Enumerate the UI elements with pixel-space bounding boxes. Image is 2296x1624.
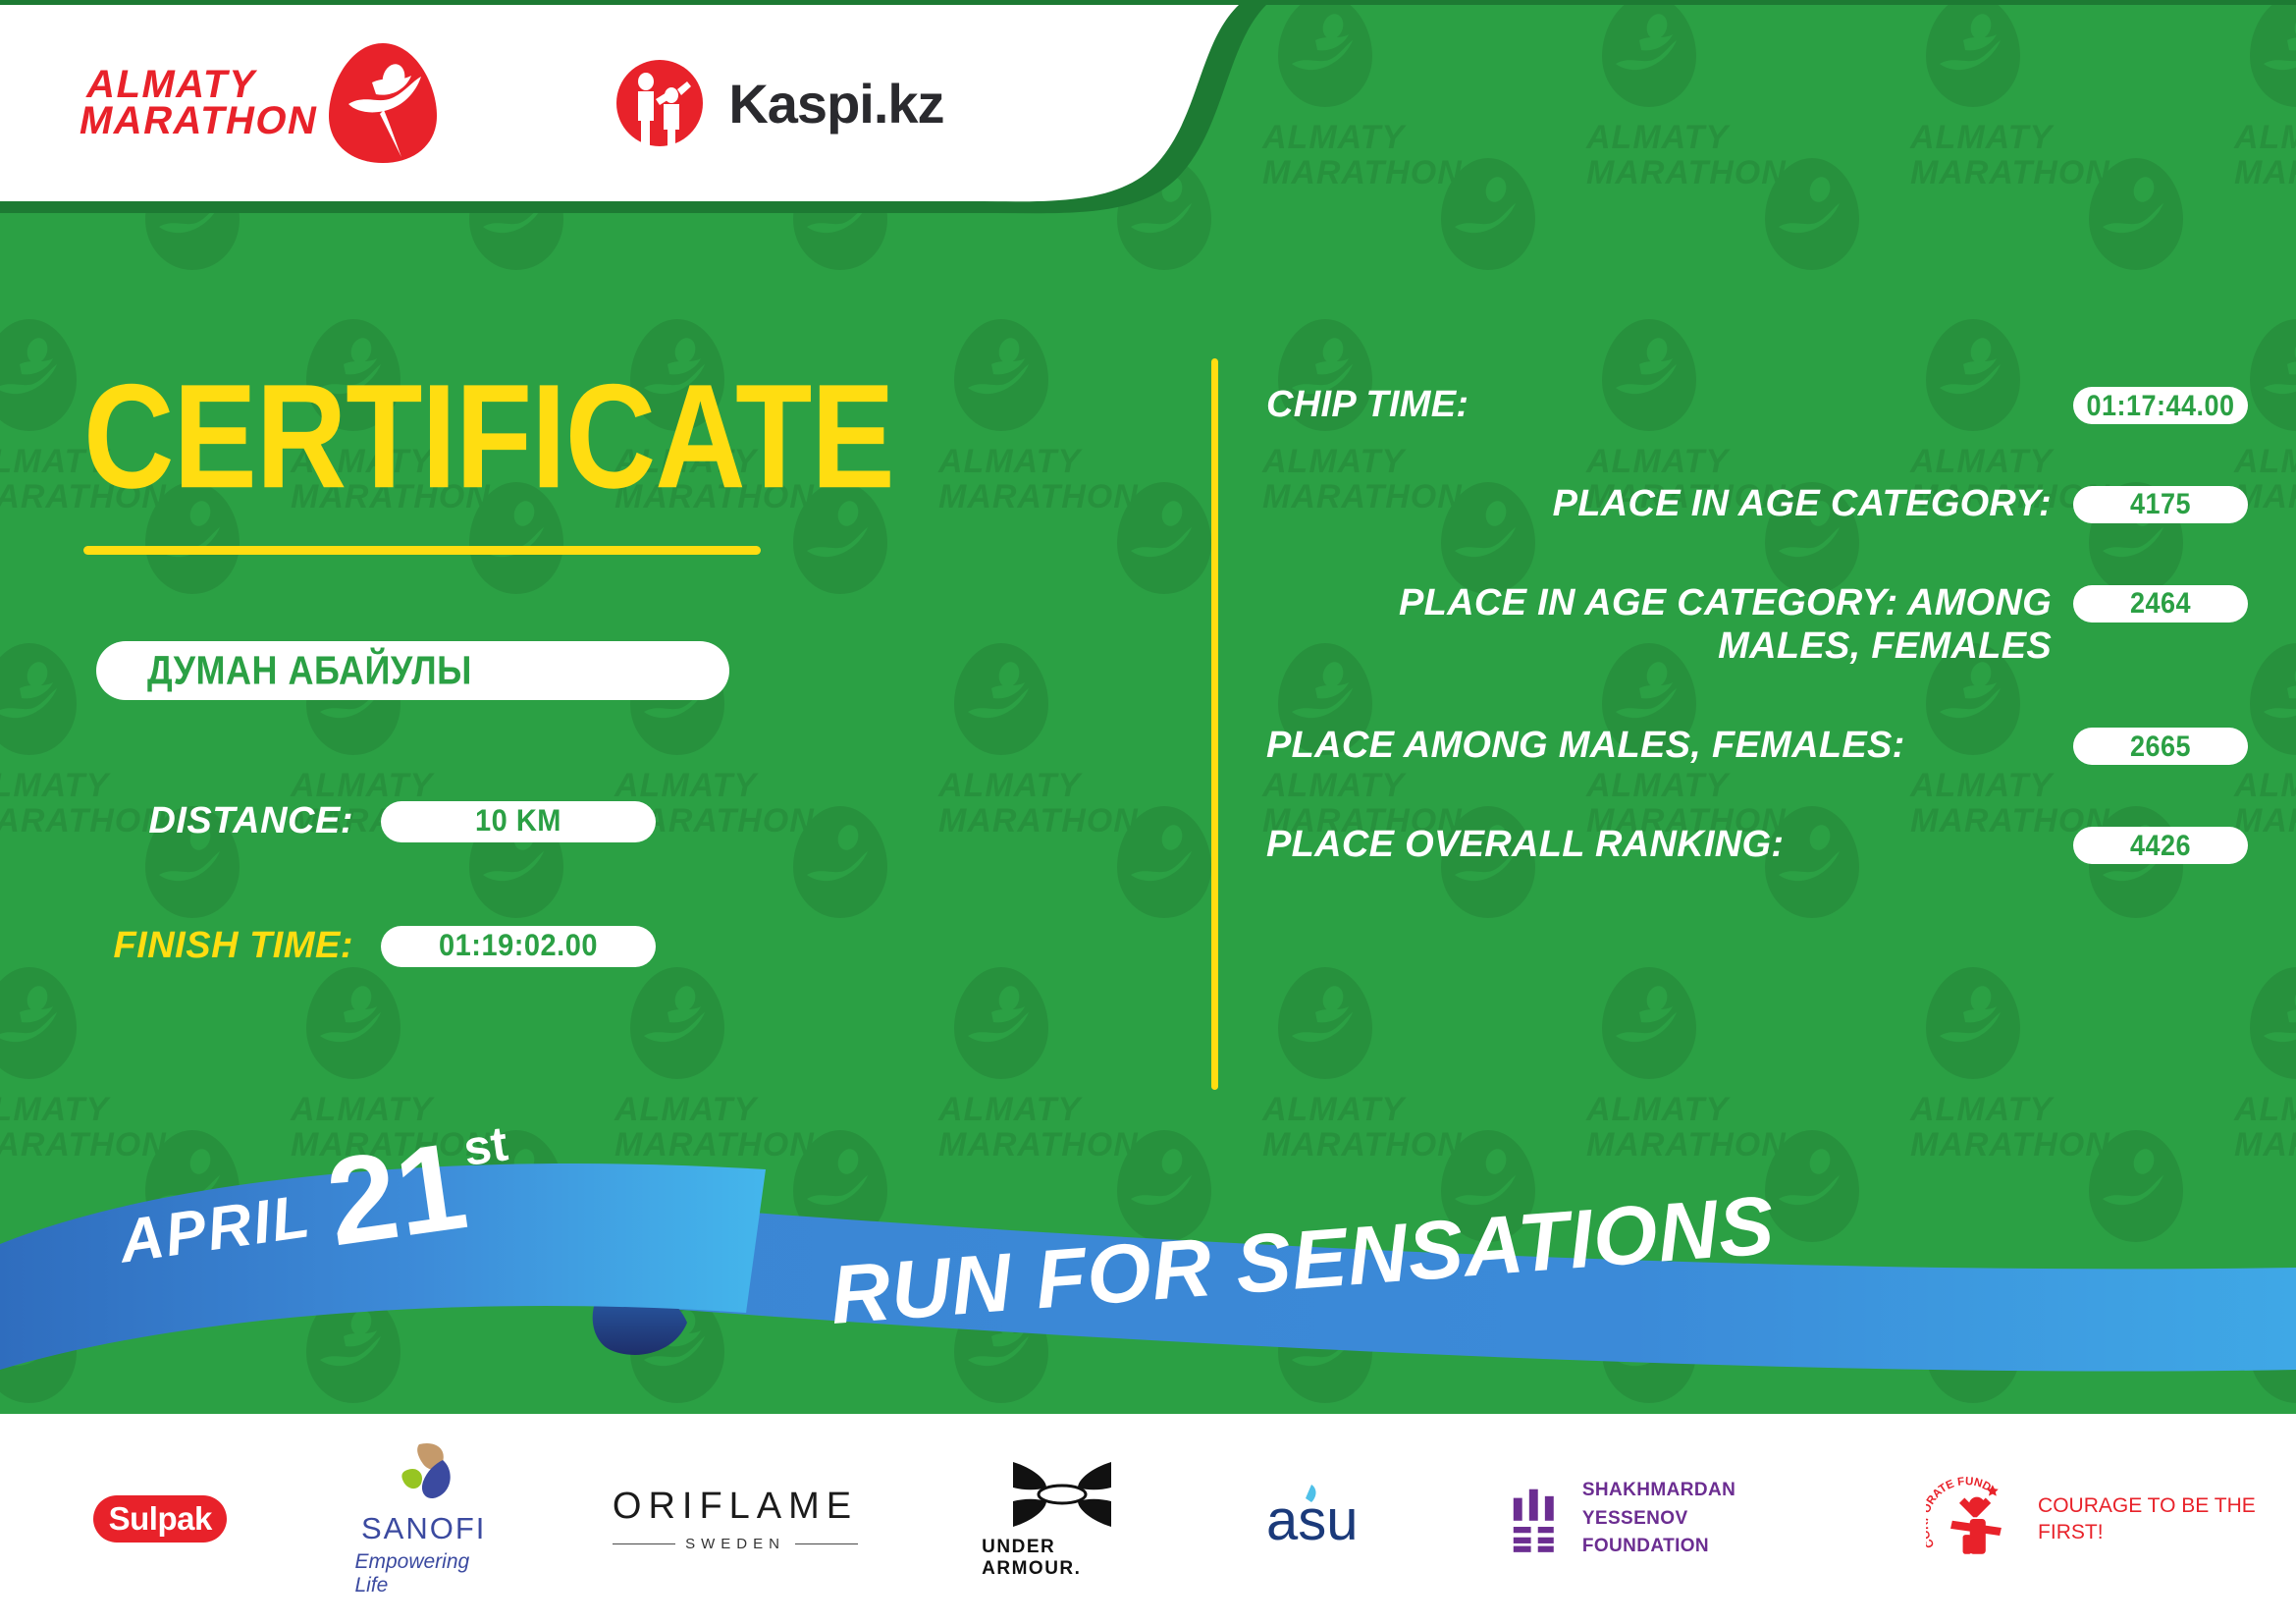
sponsor-asu[interactable]: asu xyxy=(1264,1483,1404,1555)
header-logo-row: ALMATY MARATHON xyxy=(0,10,1178,196)
stat-row-chip-time: CHIP TIME: 01:17:44.00 xyxy=(1266,383,2248,427)
event-day: 21 xyxy=(322,1136,472,1253)
sponsor-under-armour[interactable]: UNDER ARMOUR. xyxy=(982,1458,1143,1580)
chip-time-label: CHIP TIME: xyxy=(1266,383,2052,427)
right-stats-group: CHIP TIME: 01:17:44.00 PLACE IN AGE CATE… xyxy=(1266,383,2248,922)
under-armour-logo-icon xyxy=(1007,1458,1117,1531)
event-date: APRIL 21 st xyxy=(110,1114,519,1282)
oriflame-rule-right xyxy=(795,1543,858,1544)
oriflame-tagline: SWEDEN xyxy=(685,1536,785,1552)
sanofi-wordmark: SANOFI xyxy=(361,1511,486,1546)
kaspi-wordmark: Kaspi.kz xyxy=(728,72,943,135)
certificate-green-panel: ALMATY MARATHON xyxy=(0,5,2296,1624)
yessenov-line2: FOUNDATION xyxy=(1582,1536,1709,1556)
place-age-category-value-pill: 4175 xyxy=(2073,486,2248,523)
stat-row-place-overall: PLACE OVERALL RANKING: 4426 xyxy=(1266,823,2248,867)
event-slogan: RUN FOR SENSATIONS xyxy=(828,1177,1778,1343)
kaspi-logo[interactable]: Kaspi.kz xyxy=(613,56,943,150)
runner-drop-icon xyxy=(325,39,441,167)
finish-time-label: FINISH TIME: xyxy=(96,925,381,967)
stat-row-place-among-gender: PLACE AMONG MALES, FEMALES: 2665 xyxy=(1266,724,2248,768)
corporate-fund-runner-icon: CORPORATE FUND xyxy=(1926,1468,2024,1570)
almaty-marathon-wordmark: ALMATY MARATHON xyxy=(77,67,329,139)
sponsor-oriflame[interactable]: ORIFLAME SWEDEN xyxy=(613,1486,858,1552)
page-title: CERTIFICATE xyxy=(83,363,894,512)
place-age-category-gender-label: PLACE IN AGE CATEGORY: AMONG MALES, FEMA… xyxy=(1266,581,2052,670)
place-among-gender-label: PLACE AMONG MALES, FEMALES: xyxy=(1266,724,2052,768)
yessenov-line1: SHAKHMARDAN YESSENOV xyxy=(1582,1480,1735,1529)
courage-wordmark: COURAGE TO BE THE FIRST! xyxy=(2038,1492,2296,1546)
almaty-marathon-line1: ALMATY xyxy=(83,67,260,103)
field-row-finish-time: FINISH TIME: 01:19:02.00 xyxy=(96,925,881,967)
sulpak-wordmark: Sulpak xyxy=(109,1500,212,1538)
vertical-divider xyxy=(1211,358,1218,1090)
sponsor-courage-to-be-the-first[interactable]: CORPORATE FUND COURAGE TO BE THE FIRST! xyxy=(1926,1468,2296,1570)
finish-time-value: 01:19:02.00 xyxy=(439,928,598,963)
svg-text:asu: asu xyxy=(1266,1489,1359,1552)
almaty-marathon-logo[interactable]: ALMATY MARATHON xyxy=(83,39,441,167)
place-overall-value: 4426 xyxy=(2130,829,2191,862)
place-age-category-gender-value: 2464 xyxy=(2130,587,2191,621)
participant-name: ДУМАН АБАЙУЛЫ xyxy=(147,647,472,693)
place-among-gender-value-pill: 2665 xyxy=(2073,728,2248,765)
certificate-canvas: ALMATY MARATHON xyxy=(0,0,2296,1624)
stat-row-place-age-category-gender: PLACE IN AGE CATEGORY: AMONG MALES, FEMA… xyxy=(1266,581,2248,670)
event-month: APRIL xyxy=(115,1181,315,1277)
place-overall-value-pill: 4426 xyxy=(2073,827,2248,864)
left-field-group: DISTANCE: 10 KM FINISH TIME: 01:19:02.00 xyxy=(96,800,881,1050)
almaty-marathon-line2: MARATHON xyxy=(77,103,322,139)
yessenov-wordmark: SHAKHMARDAN YESSENOV FOUNDATION xyxy=(1582,1477,1818,1561)
oriflame-subline: SWEDEN xyxy=(613,1536,858,1552)
place-overall-label: PLACE OVERALL RANKING: xyxy=(1266,823,2052,867)
finish-time-value-pill: 01:19:02.00 xyxy=(381,926,656,967)
sponsor-sanofi[interactable]: SANOFI Empowering Life xyxy=(354,1440,492,1597)
place-age-category-gender-value-pill: 2464 xyxy=(2073,585,2248,623)
participant-name-field: ДУМАН АБАЙУЛЫ xyxy=(96,641,729,700)
field-row-distance: DISTANCE: 10 KM xyxy=(96,800,881,842)
distance-label: DISTANCE: xyxy=(96,800,381,842)
sanofi-tagline: Empowering Life xyxy=(354,1550,492,1597)
under-armour-wordmark: UNDER ARMOUR. xyxy=(982,1537,1143,1580)
oriflame-wordmark: ORIFLAME xyxy=(613,1486,858,1528)
asu-logo-icon: asu xyxy=(1264,1483,1404,1555)
yessenov-bars-icon xyxy=(1512,1482,1561,1556)
title-underline xyxy=(83,546,761,555)
kaspi-people-icon xyxy=(613,56,707,150)
distance-value: 10 KM xyxy=(475,803,561,839)
chip-time-value: 01:17:44.00 xyxy=(2086,389,2234,422)
place-among-gender-value: 2665 xyxy=(2130,730,2191,763)
sanofi-mark-icon xyxy=(386,1440,462,1511)
event-day-ordinal: st xyxy=(460,1114,511,1177)
oriflame-rule-left xyxy=(613,1543,675,1544)
sponsor-sulpak[interactable]: Sulpak xyxy=(93,1495,227,1543)
sponsor-bar: Sulpak SANOFI Empowering Life ORIFLAME S… xyxy=(0,1414,2296,1624)
place-age-category-label: PLACE IN AGE CATEGORY: xyxy=(1266,482,2052,526)
place-age-category-value: 4175 xyxy=(2130,488,2191,521)
chip-time-value-pill: 01:17:44.00 xyxy=(2073,387,2248,424)
distance-value-pill: 10 KM xyxy=(381,801,656,842)
stat-row-place-age-category: PLACE IN AGE CATEGORY: 4175 xyxy=(1266,482,2248,526)
certificate-title-block: CERTIFICATE xyxy=(83,363,894,555)
sponsor-shakhmardan-yessenov[interactable]: SHAKHMARDAN YESSENOV FOUNDATION xyxy=(1512,1477,1818,1561)
